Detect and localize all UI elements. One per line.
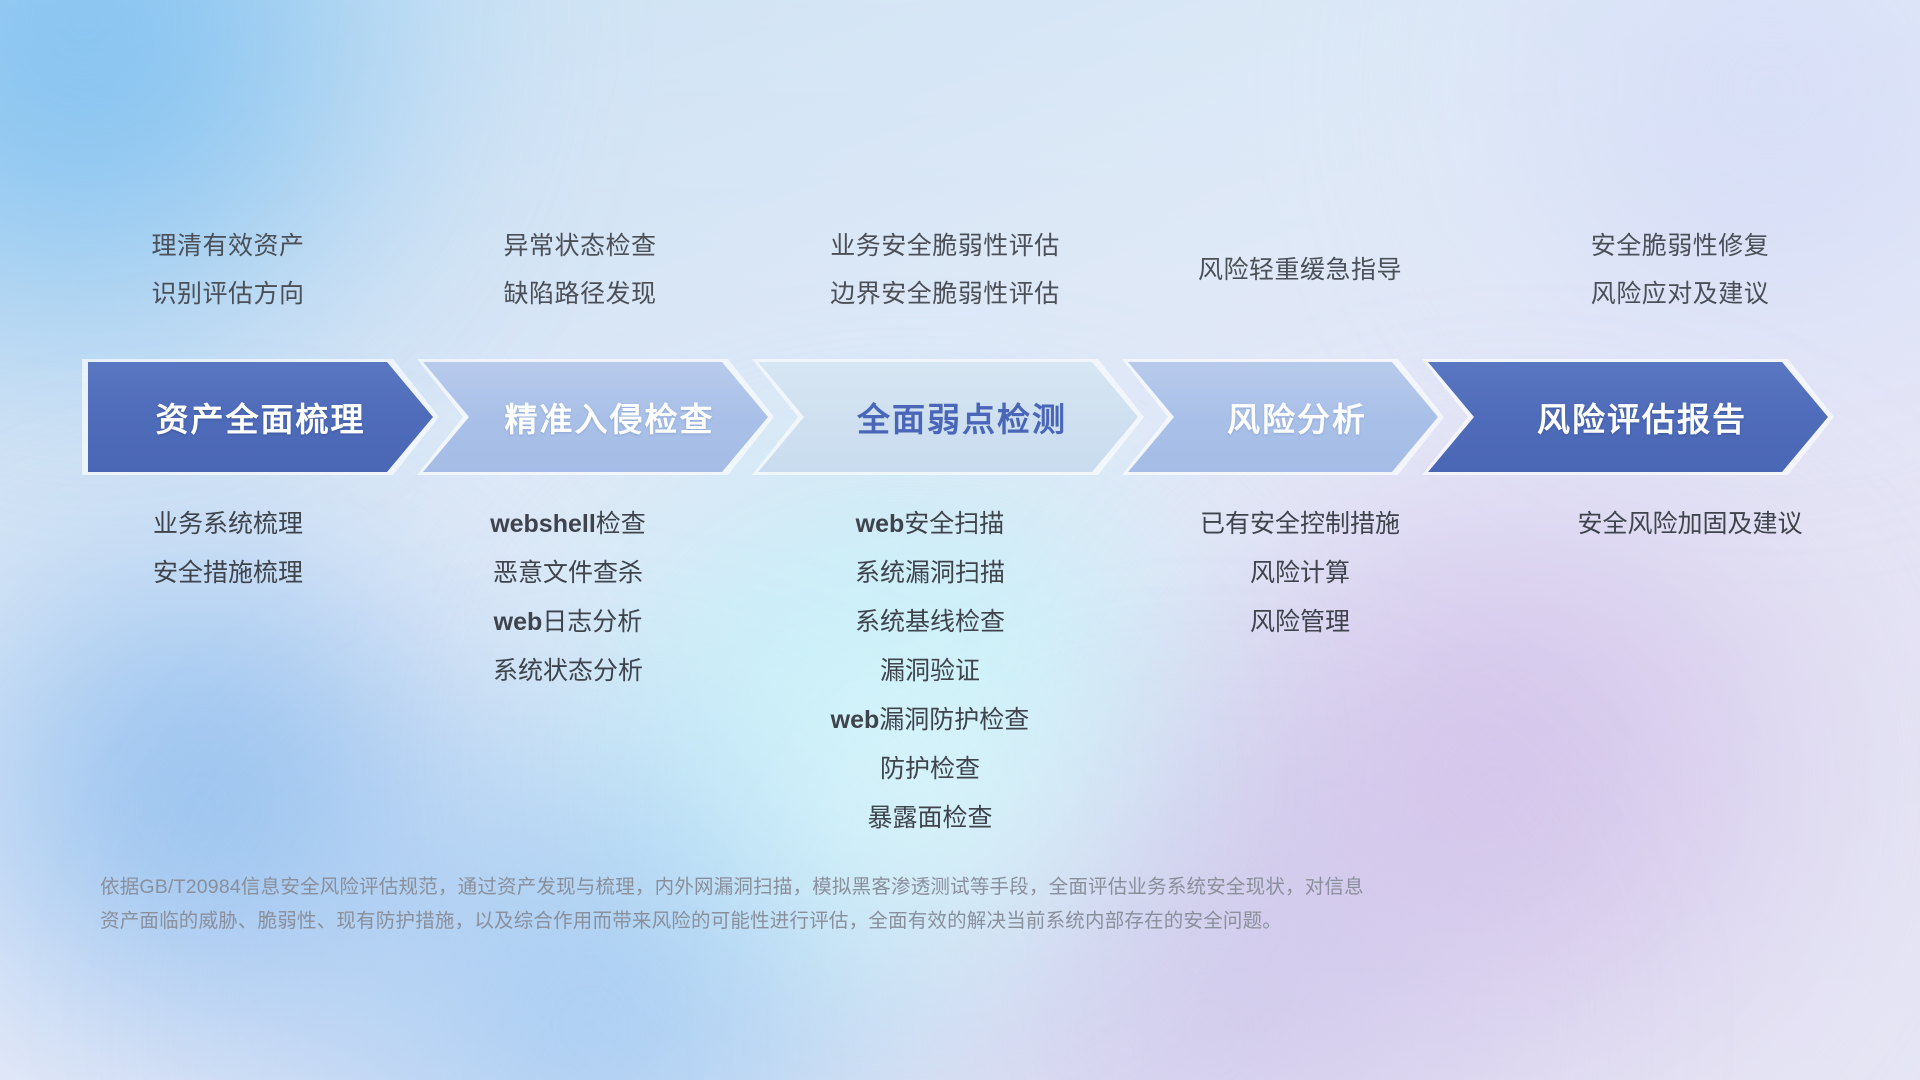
- bottom-caption-item: web漏洞防护检查: [710, 696, 1150, 745]
- top-caption-column-risk-analysis: 风险轻重缓急指导: [1100, 246, 1500, 294]
- bottom-caption-item: 暴露面检查: [710, 794, 1150, 843]
- bottom-caption-column-assessment-report: 安全风险加固及建议: [1470, 500, 1910, 549]
- footer-line-1: 依据GB/T20984信息安全风险评估规范，通过资产发现与梳理，内外网漏洞扫描，…: [100, 870, 1660, 904]
- top-caption-column-intrusion-check: 异常状态检查缺陷路径发现: [380, 222, 780, 318]
- top-caption-item: 风险轻重缓急指导: [1100, 246, 1500, 294]
- top-caption-column-asset-inventory: 理清有效资产识别评估方向: [28, 222, 428, 318]
- bottom-caption-item: 漏洞验证: [710, 647, 1150, 696]
- chevron-stage-band: 资产全面梳理精准入侵检查全面弱点检测风险分析风险评估报告: [88, 362, 1856, 472]
- bottom-caption-item-text: 日志分析: [542, 608, 642, 636]
- chevron-stage-label: 全面弱点检测: [829, 393, 1067, 441]
- bottom-caption-item-text: 漏洞防护检查: [879, 706, 1029, 734]
- bottom-caption-item-text: 安全扫描: [904, 510, 1004, 538]
- chevron-stage-weakness-detection[interactable]: 全面弱点检测: [758, 362, 1138, 472]
- bottom-caption-item: 风险管理: [1080, 598, 1520, 647]
- chevron-stage-label: 风险评估报告: [1509, 393, 1747, 441]
- chevron-stage-intrusion-check[interactable]: 精准入侵检查: [423, 362, 768, 472]
- bottom-caption-column-risk-analysis: 已有安全控制措施风险计算风险管理: [1080, 500, 1520, 647]
- bottom-caption-item: 已有安全控制措施: [1080, 500, 1520, 549]
- top-caption-item: 风险应对及建议: [1480, 270, 1880, 318]
- top-caption-column-assessment-report: 安全脆弱性修复风险应对及建议: [1480, 222, 1880, 318]
- top-caption-item: 异常状态检查: [380, 222, 780, 270]
- top-caption-item: 缺陷路径发现: [380, 270, 780, 318]
- process-diagram: 理清有效资产识别评估方向异常状态检查缺陷路径发现业务安全脆弱性评估边界安全脆弱性…: [0, 0, 1920, 1080]
- chevron-stage-label: 精准入侵检查: [477, 393, 715, 441]
- top-caption-item: 边界安全脆弱性评估: [745, 270, 1145, 318]
- bottom-caption-item-prefix: webshell: [490, 510, 596, 538]
- chevron-stage-assessment-report[interactable]: 风险评估报告: [1428, 362, 1828, 472]
- chevron-stage-label: 风险分析: [1199, 393, 1367, 441]
- top-caption-item: 业务安全脆弱性评估: [745, 222, 1145, 270]
- chevron-stage-label: 资产全面梳理: [156, 393, 366, 441]
- top-caption-item: 安全脆弱性修复: [1480, 222, 1880, 270]
- bottom-captions-band: 业务系统梳理安全措施梳理webshell检查恶意文件查杀web日志分析系统状态分…: [0, 500, 1920, 850]
- top-caption-item: 识别评估方向: [28, 270, 428, 318]
- footer-description: 依据GB/T20984信息安全风险评估规范，通过资产发现与梳理，内外网漏洞扫描，…: [100, 870, 1660, 938]
- bottom-caption-item-prefix: web: [856, 510, 905, 538]
- bottom-caption-item-text: 检查: [596, 510, 646, 538]
- top-caption-column-weakness-detection: 业务安全脆弱性评估边界安全脆弱性评估: [745, 222, 1145, 318]
- top-captions-band: 理清有效资产识别评估方向异常状态检查缺陷路径发现业务安全脆弱性评估边界安全脆弱性…: [0, 222, 1920, 332]
- footer-line-2: 资产面临的威胁、脆弱性、现有防护措施，以及综合作用而带来风险的可能性进行评估，全…: [100, 904, 1660, 938]
- top-caption-item: 理清有效资产: [28, 222, 428, 270]
- bottom-caption-item: 风险计算: [1080, 549, 1520, 598]
- bottom-caption-item-prefix: web: [831, 706, 880, 734]
- chevron-stage-risk-analysis[interactable]: 风险分析: [1128, 362, 1438, 472]
- bottom-caption-item: 安全风险加固及建议: [1470, 500, 1910, 549]
- chevron-stage-asset-inventory[interactable]: 资产全面梳理: [88, 362, 433, 472]
- bottom-caption-item: 防护检查: [710, 745, 1150, 794]
- bottom-caption-item-prefix: web: [494, 608, 543, 636]
